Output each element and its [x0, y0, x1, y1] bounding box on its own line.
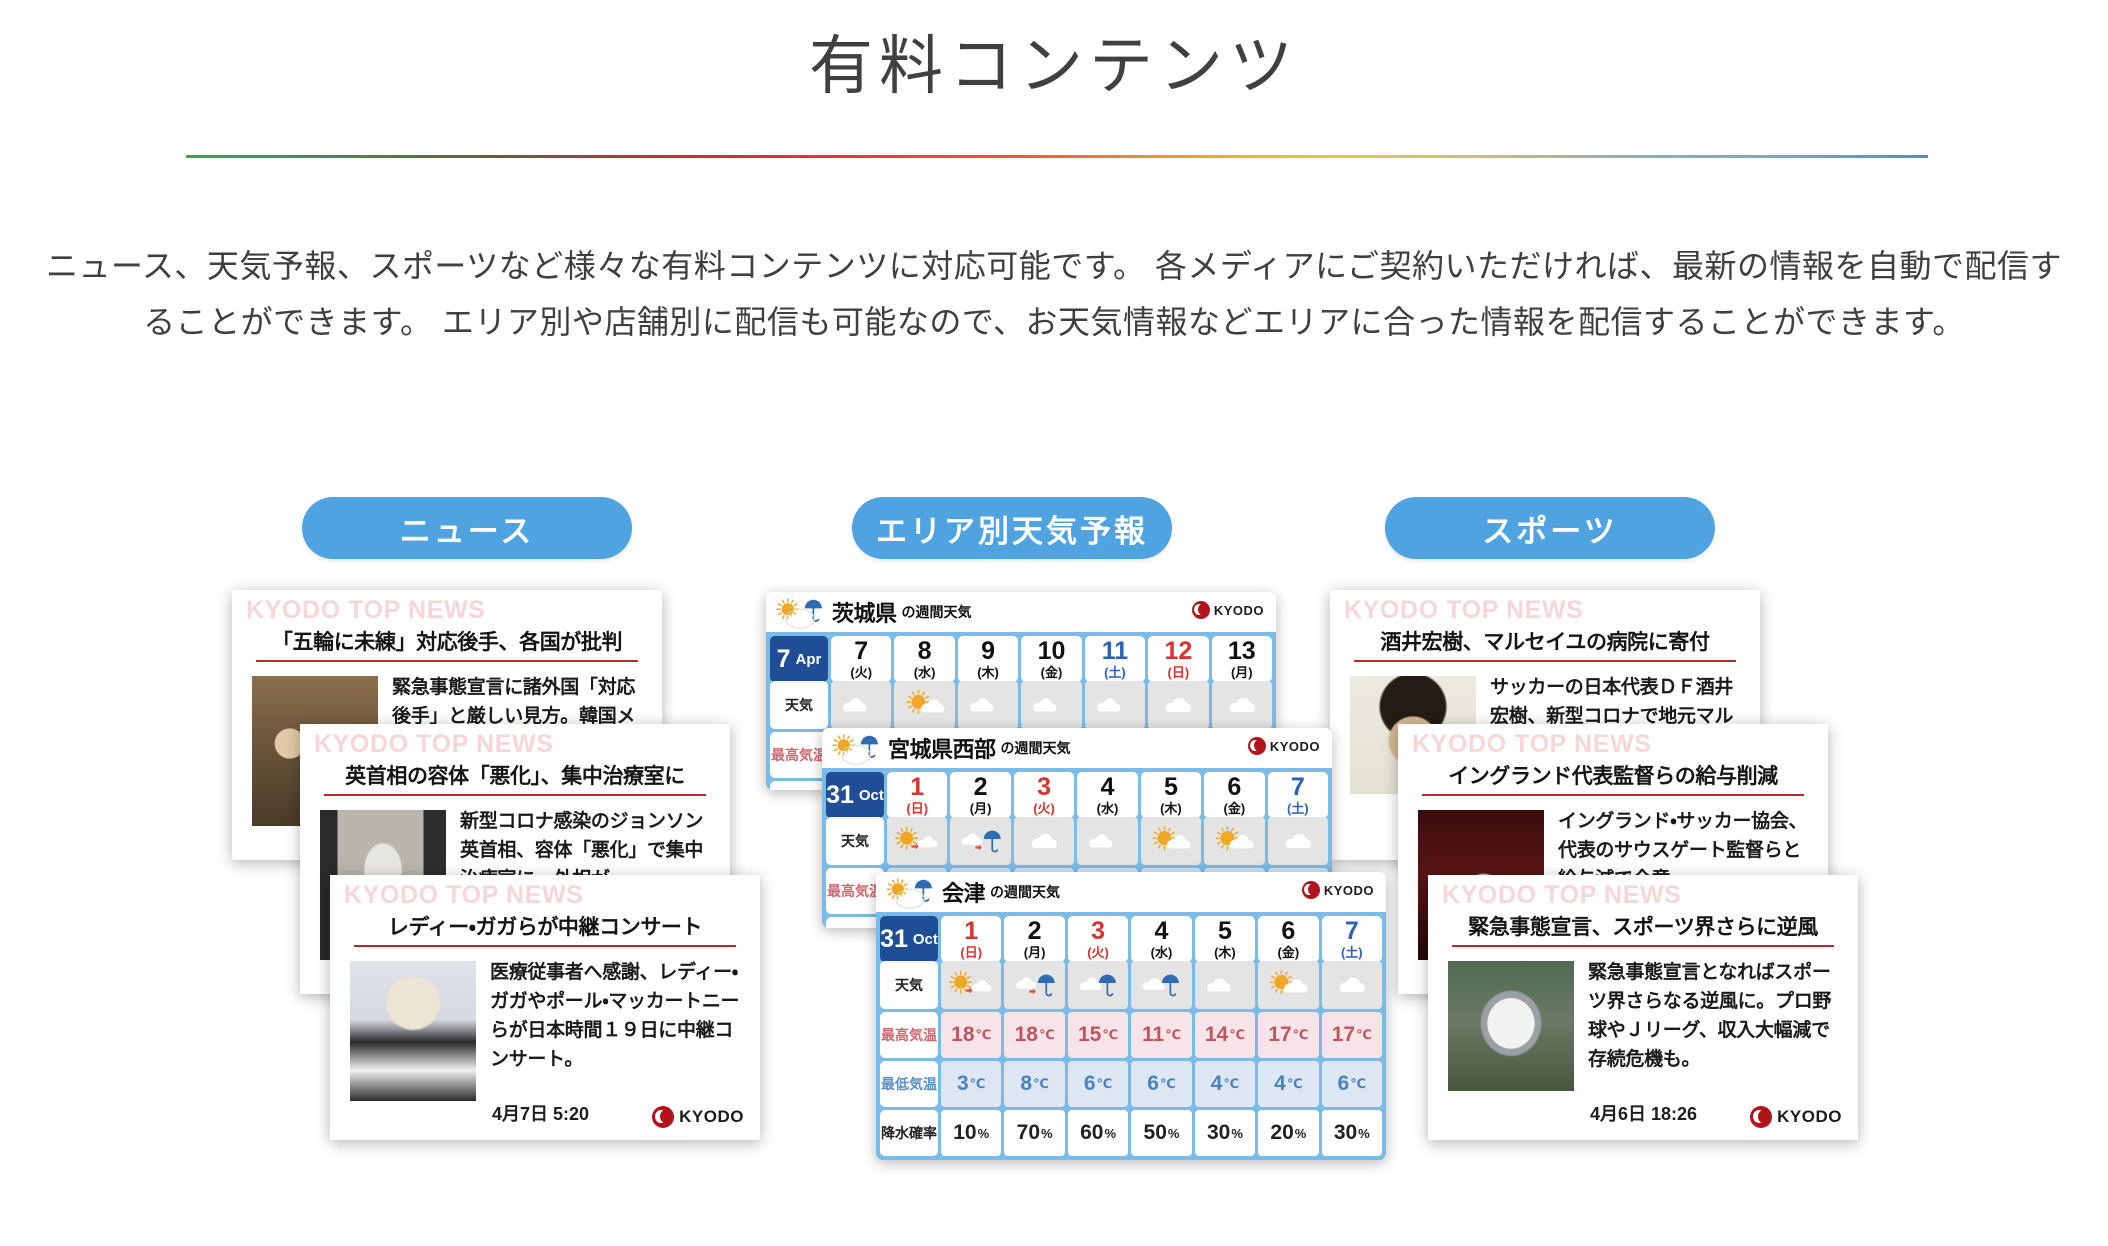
weather-grid: 31 Oct 1 (日) 2 (月) 3 (火) 4 (水) 5 (木) 6 (… [876, 912, 1386, 1160]
kyodo-logo: KYODO [652, 1106, 744, 1128]
day-number: 10 [1038, 639, 1066, 664]
news-timestamp: 4月6日 18:26 [1590, 1100, 1697, 1126]
precip-value: 30 [1207, 1121, 1230, 1145]
sun-cloud-icon [903, 688, 947, 723]
forecast-day-header[interactable]: 6 (金) [1258, 916, 1318, 962]
news-thumbnail [350, 961, 476, 1101]
day-number: 3 [1037, 775, 1051, 800]
precip-cell: 50 % [1131, 1110, 1191, 1156]
weather-subtitle: の週間天気 [1001, 738, 1071, 758]
day-number: 8 [918, 639, 932, 664]
day-of-week: (月) [970, 802, 992, 815]
headline-rule [354, 945, 736, 947]
forecast-day-header[interactable]: 5 (木) [1141, 772, 1201, 818]
headline-rule [324, 794, 706, 796]
headline-rule [1422, 794, 1804, 796]
high-temp-cell: 14 ℃ [1195, 1012, 1255, 1058]
weather-region-name: 会津 [942, 876, 985, 908]
kyodo-logo: KYODO [1192, 601, 1264, 619]
forecast-day-header[interactable]: 1 (日) [941, 916, 1001, 962]
day-number: 5 [1218, 919, 1232, 944]
forecast-day-header[interactable]: 5 (木) [1195, 916, 1255, 962]
precip-row: 降水確率 10 % 70 % 60 % 50 % 30 % 20 % [880, 1110, 1382, 1156]
low-temp-value: 4 [1211, 1072, 1223, 1096]
kyodo-wordmark: KYODO [1214, 603, 1264, 618]
low-temp-cell: 6 ℃ [1322, 1061, 1382, 1107]
kyodo-top-news-brand: KYODO TOP NEWS [314, 730, 553, 759]
news-headline: イングランド代表監督らの給与削減 [1398, 760, 1828, 790]
low-temp-cell: 4 ℃ [1195, 1061, 1255, 1107]
weather-icon-cell [1077, 817, 1137, 865]
date-badge-month: Oct [859, 787, 884, 804]
cloud-icon [1330, 968, 1374, 1003]
kyodo-wordmark: KYODO [679, 1107, 744, 1127]
high-temp-value: 14 [1205, 1023, 1228, 1047]
forecast-day-header[interactable]: 6 (金) [1204, 772, 1264, 818]
weather-icon-cell [1195, 961, 1255, 1009]
day-of-week: (木) [1160, 802, 1182, 815]
precip-value: 70 [1017, 1121, 1040, 1145]
cloud-icon [1276, 824, 1320, 859]
day-number: 11 [1102, 639, 1128, 664]
high-temp-cell: 15 ℃ [1068, 1012, 1128, 1058]
temp-unit: ℃ [1293, 1027, 1309, 1043]
forecast-day-header[interactable]: 2 (月) [1004, 916, 1064, 962]
kyodo-wordmark: KYODO [1324, 883, 1374, 898]
low-temp-value: 4 [1274, 1072, 1286, 1096]
day-number: 9 [981, 639, 995, 664]
sun-arrow-cloud-icon [949, 968, 993, 1003]
high-temp-value: 17 [1268, 1023, 1291, 1047]
high-temp-cell: 18 ℃ [1004, 1012, 1064, 1058]
day-number: 12 [1164, 639, 1192, 664]
precip-value: 20 [1270, 1121, 1293, 1145]
kyodo-top-news-brand: KYODO TOP NEWS [1412, 730, 1651, 759]
high-temp-value: 18 [1015, 1023, 1038, 1047]
temp-unit: ℃ [1160, 1076, 1176, 1092]
news-body: 緊急事態宣言となればスポーツ界さらなる逆風に。プロ野球やＪリーグ、収入大幅減で存… [1588, 959, 1846, 1075]
forecast-day-header[interactable]: 1 (日) [887, 772, 947, 818]
day-of-week: (火) [850, 666, 872, 679]
day-of-week: (土) [1104, 666, 1126, 679]
sun-arrow-cloud-icon [895, 824, 939, 859]
row-label-weather: 天気 [880, 961, 938, 1009]
weather-icon-cell [1258, 961, 1318, 1009]
day-of-week: (金) [1224, 802, 1246, 815]
percent-unit: % [1295, 1126, 1307, 1141]
day-number: 3 [1091, 919, 1105, 944]
day-number: 1 [910, 775, 924, 800]
pill-label: スポーツ [1482, 506, 1617, 551]
weather-icon-cell [887, 817, 947, 865]
low-temp-value: 3 [957, 1072, 969, 1096]
percent-unit: % [1104, 1126, 1116, 1141]
kyodo-top-news-brand: KYODO TOP NEWS [1344, 596, 1583, 625]
news-thumbnail [1448, 961, 1574, 1091]
day-of-week: (水) [914, 666, 936, 679]
day-number: 2 [974, 775, 988, 800]
headline-rule [1354, 660, 1736, 662]
sun-cloud-icon [1212, 824, 1256, 859]
day-number: 5 [1164, 775, 1178, 800]
temp-unit: ℃ [1039, 1027, 1055, 1043]
temp-unit: ℃ [1102, 1027, 1118, 1043]
cloud-sun-icon [839, 688, 883, 723]
weather-icon-cell [831, 681, 891, 729]
kyodo-mark-icon [1302, 881, 1320, 899]
gradient-divider [186, 155, 1928, 158]
category-pill-weather[interactable]: エリア別天気予報 [852, 497, 1172, 559]
row-label-high: 最高気温 [880, 1012, 938, 1058]
precip-value: 60 [1080, 1121, 1103, 1145]
row-label-high: 最高気温 [770, 732, 828, 778]
day-number: 6 [1227, 775, 1241, 800]
day-number: 2 [1028, 919, 1042, 944]
forecast-day-header[interactable]: 9 (木) [958, 636, 1018, 682]
low-temp-value: 8 [1020, 1072, 1032, 1096]
date-badge-number: 31 [826, 781, 854, 810]
day-of-week: (土) [1287, 802, 1309, 815]
low-temp-cell: 6 ℃ [1131, 1061, 1191, 1107]
percent-unit: % [1231, 1126, 1243, 1141]
temp-unit: ℃ [1229, 1027, 1245, 1043]
day-of-week: (木) [1214, 946, 1236, 959]
weather-card-header: 茨城県 の週間天気 KYODO [766, 592, 1276, 632]
cloud-rain-icon [1076, 968, 1120, 1003]
date-badge-month: Apr [796, 651, 822, 668]
kyodo-wordmark: KYODO [1270, 739, 1320, 754]
weather-icon-cell [958, 681, 1018, 729]
precip-cell: 10 % [941, 1110, 1001, 1156]
cloud-arrow-rain-icon [959, 824, 1003, 859]
kyodo-logo: KYODO [1750, 1106, 1842, 1128]
kyodo-mark-icon [1750, 1106, 1772, 1128]
row-label-precip: 降水確率 [880, 1110, 938, 1156]
weather-icon-cell [1131, 961, 1191, 1009]
day-number: 7 [1345, 919, 1359, 944]
category-pill-news[interactable]: ニュース [302, 497, 632, 559]
day-of-week: (金) [1278, 946, 1300, 959]
low-temp-cell: 3 ℃ [941, 1061, 1001, 1107]
weather-card-header: 会津 の週間天気 KYODO [876, 872, 1386, 912]
percent-unit: % [1168, 1126, 1180, 1141]
news-headline: レディー・ガガらが中継コンサート [330, 911, 760, 941]
sports-card[interactable]: KYODO TOP NEWS 緊急事態宣言、スポーツ界さらに逆風 緊急事態宣言と… [1428, 875, 1858, 1140]
weather-icon-cell [1004, 961, 1064, 1009]
cloud-icon [1220, 688, 1264, 723]
forecast-day-header[interactable]: 7 (土) [1268, 772, 1328, 818]
forecast-day-header[interactable]: 7 (火) [831, 636, 891, 682]
low-temp-row: 最低気温 3 ℃ 8 ℃ 6 ℃ 6 ℃ 4 ℃ 4 ℃ [880, 1061, 1382, 1107]
news-headline: 「五輪に未練」対応後手、各国が批判 [232, 626, 662, 656]
weather-icon-cell [1322, 961, 1382, 1009]
temp-unit: ℃ [1097, 1076, 1113, 1092]
weather-card-header: 宮城県西部 の週間天気 KYODO [822, 728, 1332, 768]
kyodo-logo: KYODO [1302, 881, 1374, 899]
kyodo-mark-icon [1248, 737, 1266, 755]
day-of-week: (月) [1024, 946, 1046, 959]
weather-icon-row: 天気 [770, 681, 1272, 729]
headline-rule [1452, 945, 1834, 947]
day-of-week: (日) [960, 946, 982, 959]
high-temp-value: 11 [1142, 1023, 1164, 1047]
high-temp-cell: 17 ℃ [1322, 1012, 1382, 1058]
news-headline: 酒井宏樹、マルセイユの病院に寄付 [1330, 626, 1760, 656]
weather-icon-cell [1085, 681, 1145, 729]
weather-date-row: 7 Apr 7 (火) 8 (水) 9 (木) 10 (金) 11 (土) 12… [770, 636, 1272, 678]
precip-value: 30 [1334, 1121, 1357, 1145]
sun-cloud-icon [1266, 968, 1310, 1003]
forecast-day-header[interactable]: 3 (火) [1014, 772, 1074, 818]
weather-forecast-card[interactable]: 会津 の週間天気 KYODO 31 Oct 1 (日) 2 (月) 3 (火) … [876, 872, 1386, 1160]
weather-icon-cell [1148, 681, 1208, 729]
low-temp-value: 6 [1147, 1072, 1159, 1096]
day-of-week: (水) [1151, 946, 1173, 959]
page-title: 有料コンテンツ [0, 28, 2108, 105]
kyodo-wordmark: KYODO [1777, 1107, 1842, 1127]
temp-unit: ℃ [1223, 1076, 1239, 1092]
cloud-sun-icon [966, 688, 1010, 723]
forecast-day-header[interactable]: 8 (水) [894, 636, 954, 682]
precip-cell: 30 % [1195, 1110, 1255, 1156]
temp-unit: ℃ [1287, 1076, 1303, 1092]
day-of-week: (日) [906, 802, 928, 815]
high-temp-cell: 11 ℃ [1131, 1012, 1191, 1058]
kyodo-top-news-brand: KYODO TOP NEWS [246, 596, 485, 625]
row-label-low: 最低気温 [880, 1061, 938, 1107]
weather-icon-cell [1068, 961, 1128, 1009]
weather-icon-cell [894, 681, 954, 729]
pill-label: ニュース [400, 506, 534, 551]
low-temp-cell: 4 ℃ [1258, 1061, 1318, 1107]
date-badge-number: 7 [777, 645, 791, 674]
weather-icon-cell [1204, 817, 1264, 865]
day-of-week: (火) [1087, 946, 1109, 959]
cloud-sun-icon [1085, 824, 1129, 859]
temp-unit: ℃ [1033, 1076, 1049, 1092]
day-number: 1 [964, 919, 978, 944]
weather-icon-row: 天気 [880, 961, 1382, 1009]
day-of-week: (土) [1341, 946, 1363, 959]
day-number: 7 [854, 639, 868, 664]
news-timestamp: 4月7日 5:20 [492, 1100, 589, 1126]
precip-cell: 60 % [1068, 1110, 1128, 1156]
low-temp-value: 6 [1084, 1072, 1096, 1096]
news-body: 医療従事者へ感謝、レディー・ガガやポール・マッカートニーらが日本時間１９日に中継… [490, 959, 748, 1075]
day-number: 4 [1101, 775, 1115, 800]
weather-region-name: 宮城県西部 [888, 732, 996, 764]
weather-date-row: 31 Oct 1 (日) 2 (月) 3 (火) 4 (水) 5 (木) 6 (… [880, 916, 1382, 958]
weather-icon-cell [1021, 681, 1081, 729]
cloud-icon [1022, 824, 1066, 859]
precip-cell: 30 % [1322, 1110, 1382, 1156]
weather-icon-cell [941, 961, 1001, 1009]
row-label-weather: 天気 [826, 817, 884, 865]
weather-icon-cell [1268, 817, 1328, 865]
row-label-weather: 天気 [770, 681, 828, 729]
cloud-arrow-rain-icon [1013, 968, 1057, 1003]
percent-unit: % [1041, 1126, 1053, 1141]
headline-rule [256, 660, 638, 662]
weather-icon-cell [950, 817, 1010, 865]
percent-unit: % [978, 1126, 990, 1141]
lead-paragraph: ニュース、天気予報、スポーツなど様々な有料コンテンツに対応可能です。 各メディア… [45, 238, 2063, 350]
percent-unit: % [1358, 1126, 1370, 1141]
high-temp-cell: 17 ℃ [1258, 1012, 1318, 1058]
sun-cloud-icon [1149, 824, 1193, 859]
forecast-day-header[interactable]: 3 (火) [1068, 916, 1128, 962]
row-label-low: 最低気温 [770, 781, 828, 790]
high-temp-row: 最高気温 18 ℃ 18 ℃ 15 ℃ 11 ℃ 14 ℃ 17 ℃ [880, 1012, 1382, 1058]
precip-value: 50 [1144, 1121, 1167, 1145]
forecast-day-header[interactable]: 4 (水) [1077, 772, 1137, 818]
cloud-sun-icon [1203, 968, 1247, 1003]
day-of-week: (日) [1168, 666, 1190, 679]
precip-cell: 20 % [1258, 1110, 1318, 1156]
forecast-day-header[interactable]: 10 (金) [1021, 636, 1081, 682]
news-headline: 英首相の容体「悪化」、集中治療室に [300, 760, 730, 790]
forecast-day-header[interactable]: 2 (月) [950, 772, 1010, 818]
temp-unit: ℃ [1165, 1027, 1181, 1043]
news-headline: 緊急事態宣言、スポーツ界さらに逆風 [1428, 911, 1858, 941]
weather-subtitle: の週間天気 [902, 602, 972, 622]
weather-icon-cell [1014, 817, 1074, 865]
precip-cell: 70 % [1004, 1110, 1064, 1156]
date-badge-month: Oct [913, 931, 938, 948]
day-number: 13 [1228, 639, 1256, 664]
day-number: 6 [1281, 919, 1295, 944]
day-number: 7 [1291, 775, 1305, 800]
low-temp-value: 6 [1338, 1072, 1350, 1096]
cloud-sun-icon [1093, 688, 1137, 723]
low-temp-cell: 6 ℃ [1068, 1061, 1128, 1107]
high-temp-cell: 18 ℃ [941, 1012, 1001, 1058]
weather-icon-row: 天気 [826, 817, 1328, 865]
date-badge: 31 Oct [880, 916, 938, 962]
day-of-week: (木) [977, 666, 999, 679]
forecast-day-header[interactable]: 12 (日) [1148, 636, 1208, 682]
cloud-icon [1156, 688, 1200, 723]
day-of-week: (金) [1041, 666, 1063, 679]
day-of-week: (月) [1231, 666, 1253, 679]
high-temp-value: 18 [951, 1023, 974, 1047]
precip-value: 10 [953, 1121, 976, 1145]
temp-unit: ℃ [976, 1027, 992, 1043]
category-pill-sports[interactable]: スポーツ [1385, 497, 1715, 559]
kyodo-top-news-brand: KYODO TOP NEWS [344, 881, 583, 910]
temp-unit: ℃ [1356, 1027, 1372, 1043]
high-temp-value: 17 [1332, 1023, 1355, 1047]
date-badge-number: 31 [880, 925, 908, 954]
pill-label: エリア別天気予報 [876, 506, 1148, 551]
weather-region-name: 茨城県 [832, 596, 897, 628]
forecast-day-header[interactable]: 13 (月) [1212, 636, 1272, 682]
kyodo-top-news-brand: KYODO TOP NEWS [1442, 881, 1681, 910]
forecast-day-header[interactable]: 7 (土) [1322, 916, 1382, 962]
high-temp-value: 15 [1078, 1023, 1101, 1047]
day-of-week: (火) [1033, 802, 1055, 815]
weather-icon-cell [1141, 817, 1201, 865]
day-number: 4 [1155, 919, 1169, 944]
temp-unit: ℃ [1350, 1076, 1366, 1092]
date-badge: 7 Apr [770, 636, 828, 682]
kyodo-mark-icon [652, 1106, 674, 1128]
kyodo-logo: KYODO [1248, 737, 1320, 755]
cloud-sun-icon [1029, 688, 1073, 723]
weather-date-row: 31 Oct 1 (日) 2 (月) 3 (火) 4 (水) 5 (木) 6 (… [826, 772, 1328, 814]
weather-subtitle: の週間天気 [990, 882, 1060, 902]
forecast-day-header[interactable]: 4 (水) [1131, 916, 1191, 962]
forecast-day-header[interactable]: 11 (土) [1085, 636, 1145, 682]
cloud-rain-icon [1139, 968, 1183, 1003]
date-badge: 31 Oct [826, 772, 884, 818]
temp-unit: ℃ [970, 1076, 986, 1092]
low-temp-cell: 8 ℃ [1004, 1061, 1064, 1107]
weather-icon-cell [1212, 681, 1272, 729]
kyodo-mark-icon [1192, 601, 1210, 619]
day-of-week: (水) [1097, 802, 1119, 815]
news-card[interactable]: KYODO TOP NEWS レディー・ガガらが中継コンサート 医療従事者へ感謝… [330, 875, 760, 1140]
